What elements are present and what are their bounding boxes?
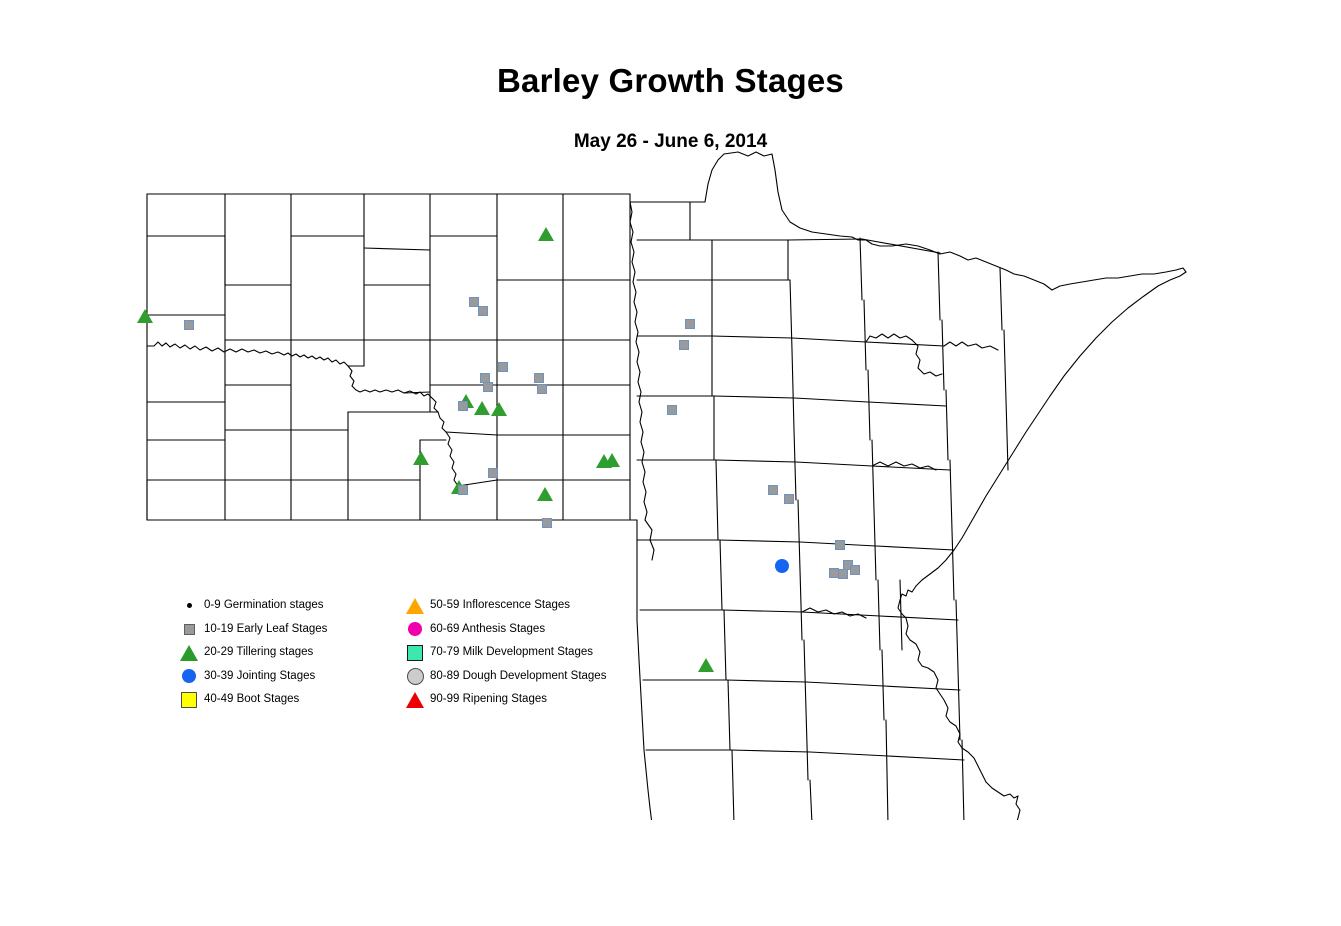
legend: 0-9 Germination stages 10-19 Early Leaf … (176, 594, 636, 720)
map-marker-triangle (538, 227, 554, 241)
dot-black-icon (176, 594, 202, 617)
map-marker-triangle (604, 453, 620, 467)
legend-item-anthesis[interactable]: 60-69 Anthesis Stages (402, 618, 632, 642)
map-marker-square (488, 468, 498, 478)
map-marker-triangle (474, 401, 490, 415)
map-marker-square (534, 373, 544, 383)
map-marker-triangle (491, 402, 507, 416)
square-yellow-icon (176, 688, 202, 711)
legend-label-germination: 0-9 Germination stages (202, 600, 324, 612)
legend-item-tillering[interactable]: 20-29 Tillering stages (176, 641, 376, 665)
map-marker-square (838, 569, 848, 579)
map-marker-square (685, 319, 695, 329)
legend-label-anthesis: 60-69 Anthesis Stages (428, 624, 545, 636)
map-marker-triangle (698, 658, 714, 672)
circle-blue-icon (176, 665, 202, 688)
map-marker-square (542, 518, 552, 528)
circle-gray-icon (402, 665, 428, 688)
legend-column-left: 0-9 Germination stages 10-19 Early Leaf … (176, 594, 376, 712)
map-marker-square (537, 384, 547, 394)
legend-label-milk: 70-79 Milk Development Stages (428, 647, 593, 659)
map-page: Barley Growth Stages May 26 - June 6, 20… (0, 0, 1341, 926)
legend-item-dough[interactable]: 80-89 Dough Development Stages (402, 665, 632, 689)
map-marker-triangle (137, 309, 153, 323)
legend-label-early-leaf: 10-19 Early Leaf Stages (202, 624, 327, 636)
legend-item-jointing[interactable]: 30-39 Jointing Stages (176, 665, 376, 689)
map-marker-square (784, 494, 794, 504)
map-marker-square (483, 382, 493, 392)
legend-label-dough: 80-89 Dough Development Stages (428, 671, 606, 683)
legend-item-early-leaf[interactable]: 10-19 Early Leaf Stages (176, 618, 376, 642)
map-marker-circle (775, 559, 789, 573)
map-marker-triangle (537, 487, 553, 501)
map-marker-square (768, 485, 778, 495)
map-marker-square (667, 405, 677, 415)
legend-label-jointing: 30-39 Jointing Stages (202, 671, 315, 683)
map-marker-square (458, 401, 468, 411)
map-marker-square (850, 565, 860, 575)
triangle-red-icon (402, 688, 428, 711)
legend-item-milk[interactable]: 70-79 Milk Development Stages (402, 641, 632, 665)
legend-item-germination[interactable]: 0-9 Germination stages (176, 594, 376, 618)
legend-column-right: 50-59 Inflorescence Stages 60-69 Anthesi… (402, 594, 632, 712)
map-marker-square (458, 485, 468, 495)
triangle-green-icon (176, 641, 202, 664)
map-marker-square (184, 320, 194, 330)
legend-label-ripening: 90-99 Ripening Stages (428, 694, 547, 706)
legend-item-ripening[interactable]: 90-99 Ripening Stages (402, 688, 632, 712)
map-marker-triangle (413, 451, 429, 465)
map-marker-square (498, 362, 508, 372)
circle-magenta-icon (402, 618, 428, 641)
triangle-orange-icon (402, 594, 428, 617)
legend-label-tillering: 20-29 Tillering stages (202, 647, 313, 659)
map-marker-square (478, 306, 488, 316)
square-teal-icon (402, 641, 428, 664)
map-marker-square (835, 540, 845, 550)
map-marker-square (679, 340, 689, 350)
legend-item-boot[interactable]: 40-49 Boot Stages (176, 688, 376, 712)
legend-label-inflorescence: 50-59 Inflorescence Stages (428, 600, 570, 612)
legend-label-boot: 40-49 Boot Stages (202, 694, 299, 706)
legend-item-inflorescence[interactable]: 50-59 Inflorescence Stages (402, 594, 632, 618)
square-gray-icon (176, 618, 202, 641)
map-markers-layer (0, 0, 1341, 926)
